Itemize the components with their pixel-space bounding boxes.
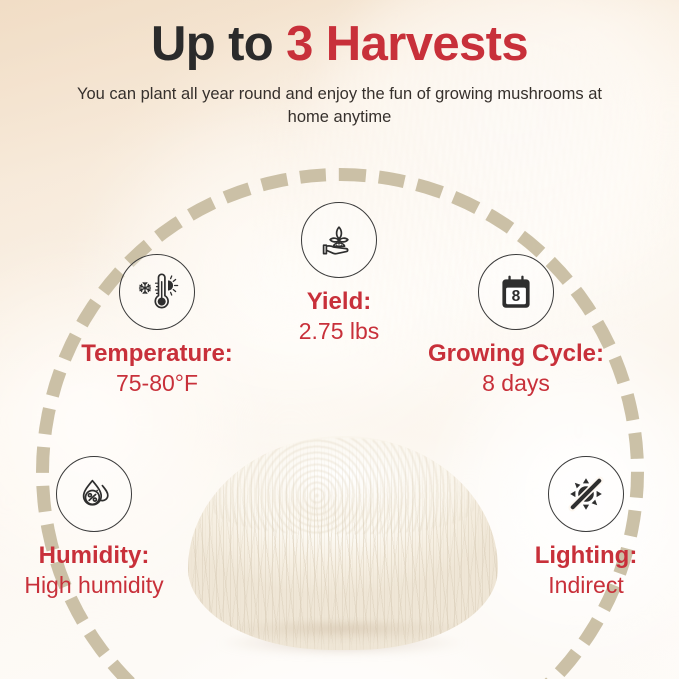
- page-title: Up to 3 Harvests: [0, 0, 679, 72]
- lions-mane-mushroom-image: [188, 432, 498, 660]
- feature-lighting: Lighting: Indirect: [461, 456, 679, 599]
- temperature-label: Temperature:: [32, 341, 282, 368]
- lighting-value: Indirect: [461, 572, 679, 599]
- yield-badge: [301, 202, 377, 278]
- mushroom-body: [188, 436, 498, 650]
- water-droplet-percent-icon: [69, 469, 119, 519]
- calendar-8-icon: 8: [491, 267, 541, 317]
- humidity-value: High humidity: [0, 572, 219, 599]
- temperature-badge: [119, 254, 195, 330]
- sun-slash-icon: [561, 469, 611, 519]
- feature-growing-cycle: 8 Growing Cycle: 8 days: [391, 254, 641, 397]
- mushroom-base-rim: [218, 620, 468, 642]
- page-title-prefix: Up to: [151, 17, 286, 71]
- page-title-accent: 3 Harvests: [286, 17, 528, 71]
- humidity-badge: [56, 456, 132, 532]
- page-subtitle: You can plant all year round and enjoy t…: [75, 83, 605, 130]
- temperature-value: 75-80°F: [32, 370, 282, 397]
- thermometer-snowflake-sun-icon: [132, 267, 182, 317]
- lighting-label: Lighting:: [461, 543, 679, 570]
- header: Up to 3 Harvests You can plant all year …: [0, 0, 679, 130]
- hand-holding-sprout-icon: [314, 215, 364, 265]
- lighting-badge: [548, 456, 624, 532]
- humidity-label: Humidity:: [0, 543, 219, 570]
- svg-text:8: 8: [512, 288, 521, 305]
- growing-cycle-label: Growing Cycle:: [391, 341, 641, 368]
- feature-humidity: Humidity: High humidity: [0, 456, 219, 599]
- growing-cycle-badge: 8: [478, 254, 554, 330]
- infographic-poster: Up to 3 Harvests You can plant all year …: [0, 0, 679, 679]
- growing-cycle-value: 8 days: [391, 370, 641, 397]
